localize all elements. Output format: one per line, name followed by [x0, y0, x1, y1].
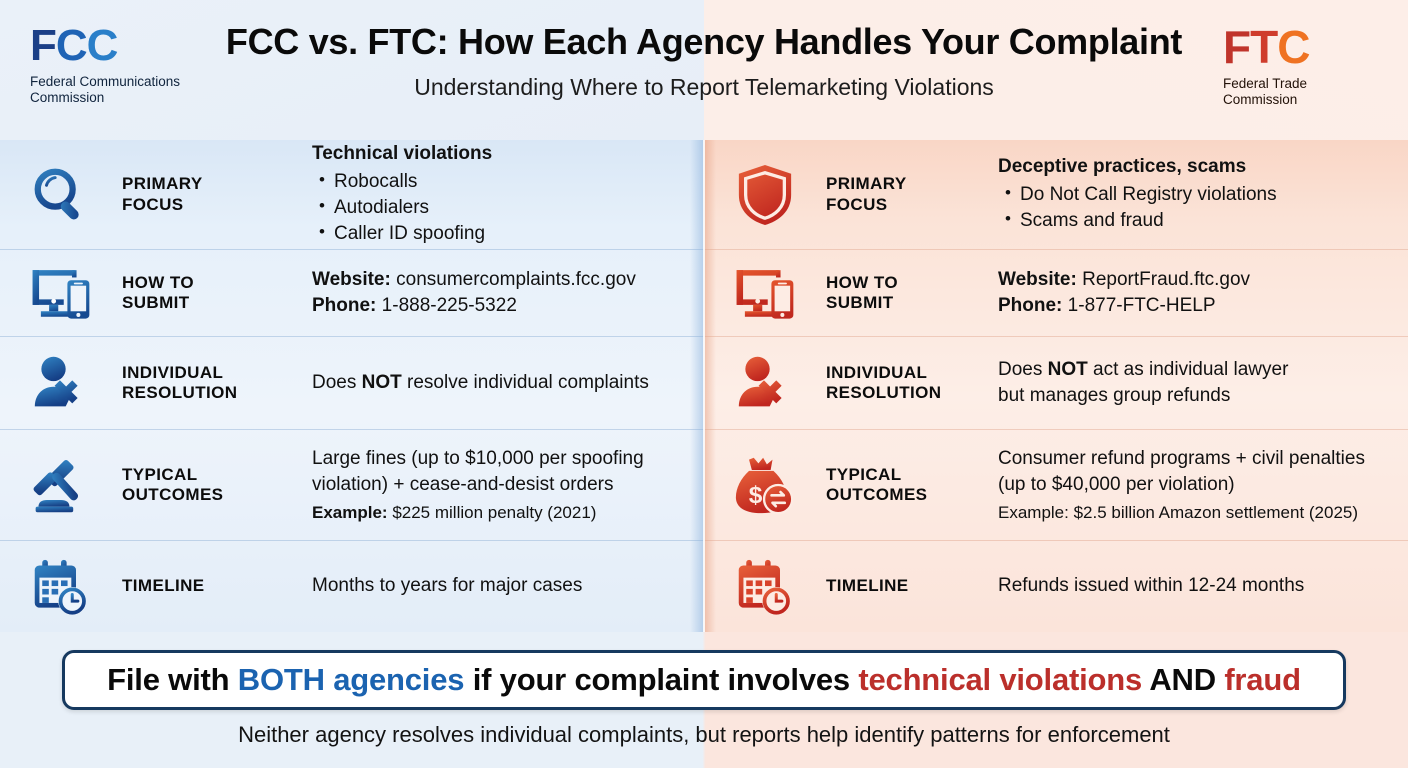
list-item: Caller ID spoofing [312, 221, 686, 247]
fcc-row-label-individual-resolution: INDIVIDUAL RESOLUTION [122, 363, 312, 403]
fcc-logo-subtext-line2: Commission [30, 90, 260, 106]
ftc-individual-resolution-content: Does NOT act as individual lawyer but ma… [998, 357, 1408, 409]
label-line1: INDIVIDUAL [122, 363, 312, 383]
ftc-typical-outcomes-content: Consumer refund programs + civil penalti… [998, 446, 1408, 524]
fcc-timeline-content: Months to years for major cases [312, 574, 704, 599]
fcc-primary-focus-heading: Technical violations [312, 142, 686, 167]
ftc-example-value: $2.5 billion Amazon settlement (2025) [1069, 503, 1358, 522]
label-line2: RESOLUTION [826, 383, 998, 403]
ftc-logo-letter-f: F [1223, 21, 1250, 73]
ftc-primary-focus-bullets: Do Not Call Registry violations Scams an… [998, 182, 1390, 234]
ftc-row-typical-outcomes: $ TYPICAL OUTCOMES Consumer refund progr… [704, 430, 1408, 541]
label-line1: HOW TO [122, 273, 312, 293]
label-line2: SUBMIT [826, 293, 998, 313]
ftc-outcome-line1: Consumer refund programs + civil penalti… [998, 446, 1390, 472]
fcc-phone-line: Phone: 1-888-225-5322 [312, 293, 686, 319]
fcc-website-line: Website: consumercomplaints.fcc.gov [312, 267, 686, 293]
fcc-logo: FCC Federal Communications Commission [30, 24, 260, 107]
fcc-outcome-line2: violation) + cease-and-desist orders [312, 472, 686, 498]
fcc-logo-letter-f: F [30, 21, 56, 70]
ftc-row-timeline: TIMELINE Refunds issued within 12-24 mon… [704, 541, 1408, 632]
desktop-mobile-icon [0, 264, 122, 322]
label-line2: RESOLUTION [122, 383, 312, 403]
fcc-website-value: consumercomplaints.fcc.gov [391, 269, 636, 290]
fcc-primary-focus-bullets: Robocalls Autodialers Caller ID spoofing [312, 169, 686, 248]
person-x-icon [0, 354, 122, 412]
fcc-row-label-how-to-submit: HOW TO SUBMIT [122, 273, 312, 313]
ftc-resolution-line1: Does NOT act as individual lawyer [998, 357, 1390, 383]
fcc-example-label: Example: [312, 503, 388, 522]
label-line1: INDIVIDUAL [826, 363, 998, 383]
ftc-outcome-line2: (up to $40,000 per violation) [998, 472, 1390, 498]
ftc-logo-subtext-line1: Federal Trade [1223, 76, 1388, 92]
text-pre: Does [998, 359, 1048, 380]
callout-seg1: File with [107, 662, 238, 697]
label-line1: PRIMARY [122, 174, 312, 194]
list-item: Do Not Call Registry violations [998, 182, 1390, 208]
ftc-row-label-primary-focus: PRIMARY FOCUS [826, 174, 998, 214]
footnote: Neither agency resolves individual compl… [0, 722, 1408, 748]
infographic-page: FCC Federal Communications Commission FC… [0, 0, 1408, 768]
ftc-phone-line: Phone: 1-877-FTC-HELP [998, 293, 1390, 319]
ftc-row-label-typical-outcomes: TYPICAL OUTCOMES [826, 465, 998, 505]
calendar-clock-icon [0, 557, 122, 617]
fcc-row-timeline: TIMELINE Months to years for major cases [0, 541, 704, 632]
money-bag-icon: $ [704, 454, 826, 516]
ftc-website-line: Website: ReportFraud.ftc.gov [998, 267, 1390, 293]
label-line2: SUBMIT [122, 293, 312, 313]
fcc-how-to-submit-content: Website: consumercomplaints.fcc.gov Phon… [312, 267, 704, 319]
callout-seg3: if your complaint involves [464, 662, 858, 697]
fcc-row-typical-outcomes: TYPICAL OUTCOMES Large fines (up to $10,… [0, 430, 704, 541]
list-item: Robocalls [312, 169, 686, 195]
ftc-logo-subtext: Federal Trade Commission [1223, 76, 1388, 109]
ftc-website-value: ReportFraud.ftc.gov [1077, 269, 1250, 290]
label-line2: OUTCOMES [826, 485, 998, 505]
label-line2: OUTCOMES [122, 485, 312, 505]
label-line2: FOCUS [122, 195, 312, 215]
ftc-column: PRIMARY FOCUS Deceptive practices, scams… [704, 140, 1408, 632]
fcc-example-value: $225 million penalty (2021) [388, 503, 597, 522]
ftc-example-label: Example: [998, 503, 1069, 522]
fcc-primary-focus-content: Technical violations Robocalls Autodiale… [312, 142, 704, 247]
comparison-grid: PRIMARY FOCUS Technical violations Roboc… [0, 140, 1408, 632]
text-emphasis: NOT [1048, 359, 1088, 380]
label-line1: TYPICAL [826, 465, 998, 485]
header: FCC Federal Communications Commission FC… [0, 0, 1408, 140]
ftc-outcome-example: Example: $2.5 billion Amazon settlement … [998, 502, 1390, 524]
ftc-row-primary-focus: PRIMARY FOCUS Deceptive practices, scams… [704, 140, 1408, 250]
fcc-typical-outcomes-content: Large fines (up to $10,000 per spoofing … [312, 446, 704, 524]
column-divider [703, 140, 705, 632]
ftc-website-label: Website: [998, 269, 1077, 290]
callout-text: File with BOTH agencies if your complain… [107, 662, 1301, 698]
ftc-row-label-individual-resolution: INDIVIDUAL RESOLUTION [826, 363, 998, 403]
fcc-logo-mark: FCC [30, 24, 260, 68]
fcc-logo-letter-c1: C [56, 21, 87, 70]
fcc-outcome-example: Example: $225 million penalty (2021) [312, 502, 686, 524]
ftc-row-how-to-submit: HOW TO SUBMIT Website: ReportFraud.ftc.g… [704, 250, 1408, 337]
shield-icon [704, 163, 826, 227]
callout-technical-violations: technical violations [858, 662, 1142, 697]
fcc-row-label-typical-outcomes: TYPICAL OUTCOMES [122, 465, 312, 505]
text-pre: Does [312, 372, 362, 393]
fcc-phone-label: Phone: [312, 295, 376, 316]
ftc-logo: FTC Federal Trade Commission [1223, 24, 1388, 109]
fcc-outcome-line1: Large fines (up to $10,000 per spoofing [312, 446, 686, 472]
callout-both-agencies: BOTH agencies [238, 662, 465, 697]
ftc-logo-subtext-line2: Commission [1223, 92, 1388, 108]
ftc-row-label-timeline: TIMELINE [826, 576, 998, 596]
list-item: Autodialers [312, 195, 686, 221]
calendar-clock-icon [704, 557, 826, 617]
magnifier-icon [0, 164, 122, 226]
fcc-column: PRIMARY FOCUS Technical violations Roboc… [0, 140, 704, 632]
bottom-section: File with BOTH agencies if your complain… [0, 632, 1408, 768]
ftc-logo-letter-c: C [1277, 21, 1309, 73]
list-item: Scams and fraud [998, 208, 1390, 234]
ftc-primary-focus-heading: Deceptive practices, scams [998, 155, 1390, 180]
text-emphasis: NOT [362, 372, 402, 393]
desktop-mobile-icon [704, 264, 826, 322]
callout-box: File with BOTH agencies if your complain… [62, 650, 1346, 710]
label-line1: HOW TO [826, 273, 998, 293]
person-x-icon [704, 354, 826, 412]
fcc-logo-subtext-line1: Federal Communications [30, 74, 260, 90]
callout-seg5: AND [1142, 662, 1224, 697]
label-line1: TIMELINE [826, 576, 998, 596]
fcc-row-how-to-submit: HOW TO SUBMIT Website: consumercomplaint… [0, 250, 704, 337]
fcc-row-primary-focus: PRIMARY FOCUS Technical violations Roboc… [0, 140, 704, 250]
label-line1: PRIMARY [826, 174, 998, 194]
fcc-row-label-primary-focus: PRIMARY FOCUS [122, 174, 312, 214]
ftc-logo-mark: FTC [1223, 24, 1388, 70]
ftc-logo-letter-t: T [1250, 21, 1277, 73]
ftc-row-label-how-to-submit: HOW TO SUBMIT [826, 273, 998, 313]
ftc-how-to-submit-content: Website: ReportFraud.ftc.gov Phone: 1-87… [998, 267, 1408, 319]
text-post: act as individual lawyer [1088, 359, 1289, 380]
callout-fraud: fraud [1224, 662, 1301, 697]
label-line2: FOCUS [826, 195, 998, 215]
ftc-row-individual-resolution: INDIVIDUAL RESOLUTION Does NOT act as in… [704, 337, 1408, 430]
fcc-logo-subtext: Federal Communications Commission [30, 74, 260, 107]
fcc-website-label: Website: [312, 269, 391, 290]
ftc-resolution-line2: but manages group refunds [998, 383, 1390, 409]
fcc-logo-letter-c2: C [87, 21, 118, 70]
svg-text:$: $ [749, 482, 763, 509]
gavel-icon [0, 454, 122, 516]
ftc-timeline-content: Refunds issued within 12-24 months [998, 574, 1408, 599]
ftc-phone-value: 1-877-FTC-HELP [1062, 295, 1215, 316]
label-line1: TYPICAL [122, 465, 312, 485]
ftc-phone-label: Phone: [998, 295, 1062, 316]
ftc-primary-focus-content: Deceptive practices, scams Do Not Call R… [998, 155, 1408, 234]
fcc-row-individual-resolution: INDIVIDUAL RESOLUTION Does NOT resolve i… [0, 337, 704, 430]
text-post: resolve individual complaints [402, 372, 649, 393]
fcc-row-label-timeline: TIMELINE [122, 576, 312, 596]
fcc-individual-resolution-content: Does NOT resolve individual complaints [312, 371, 704, 396]
fcc-phone-value: 1-888-225-5322 [376, 295, 517, 316]
label-line1: TIMELINE [122, 576, 312, 596]
